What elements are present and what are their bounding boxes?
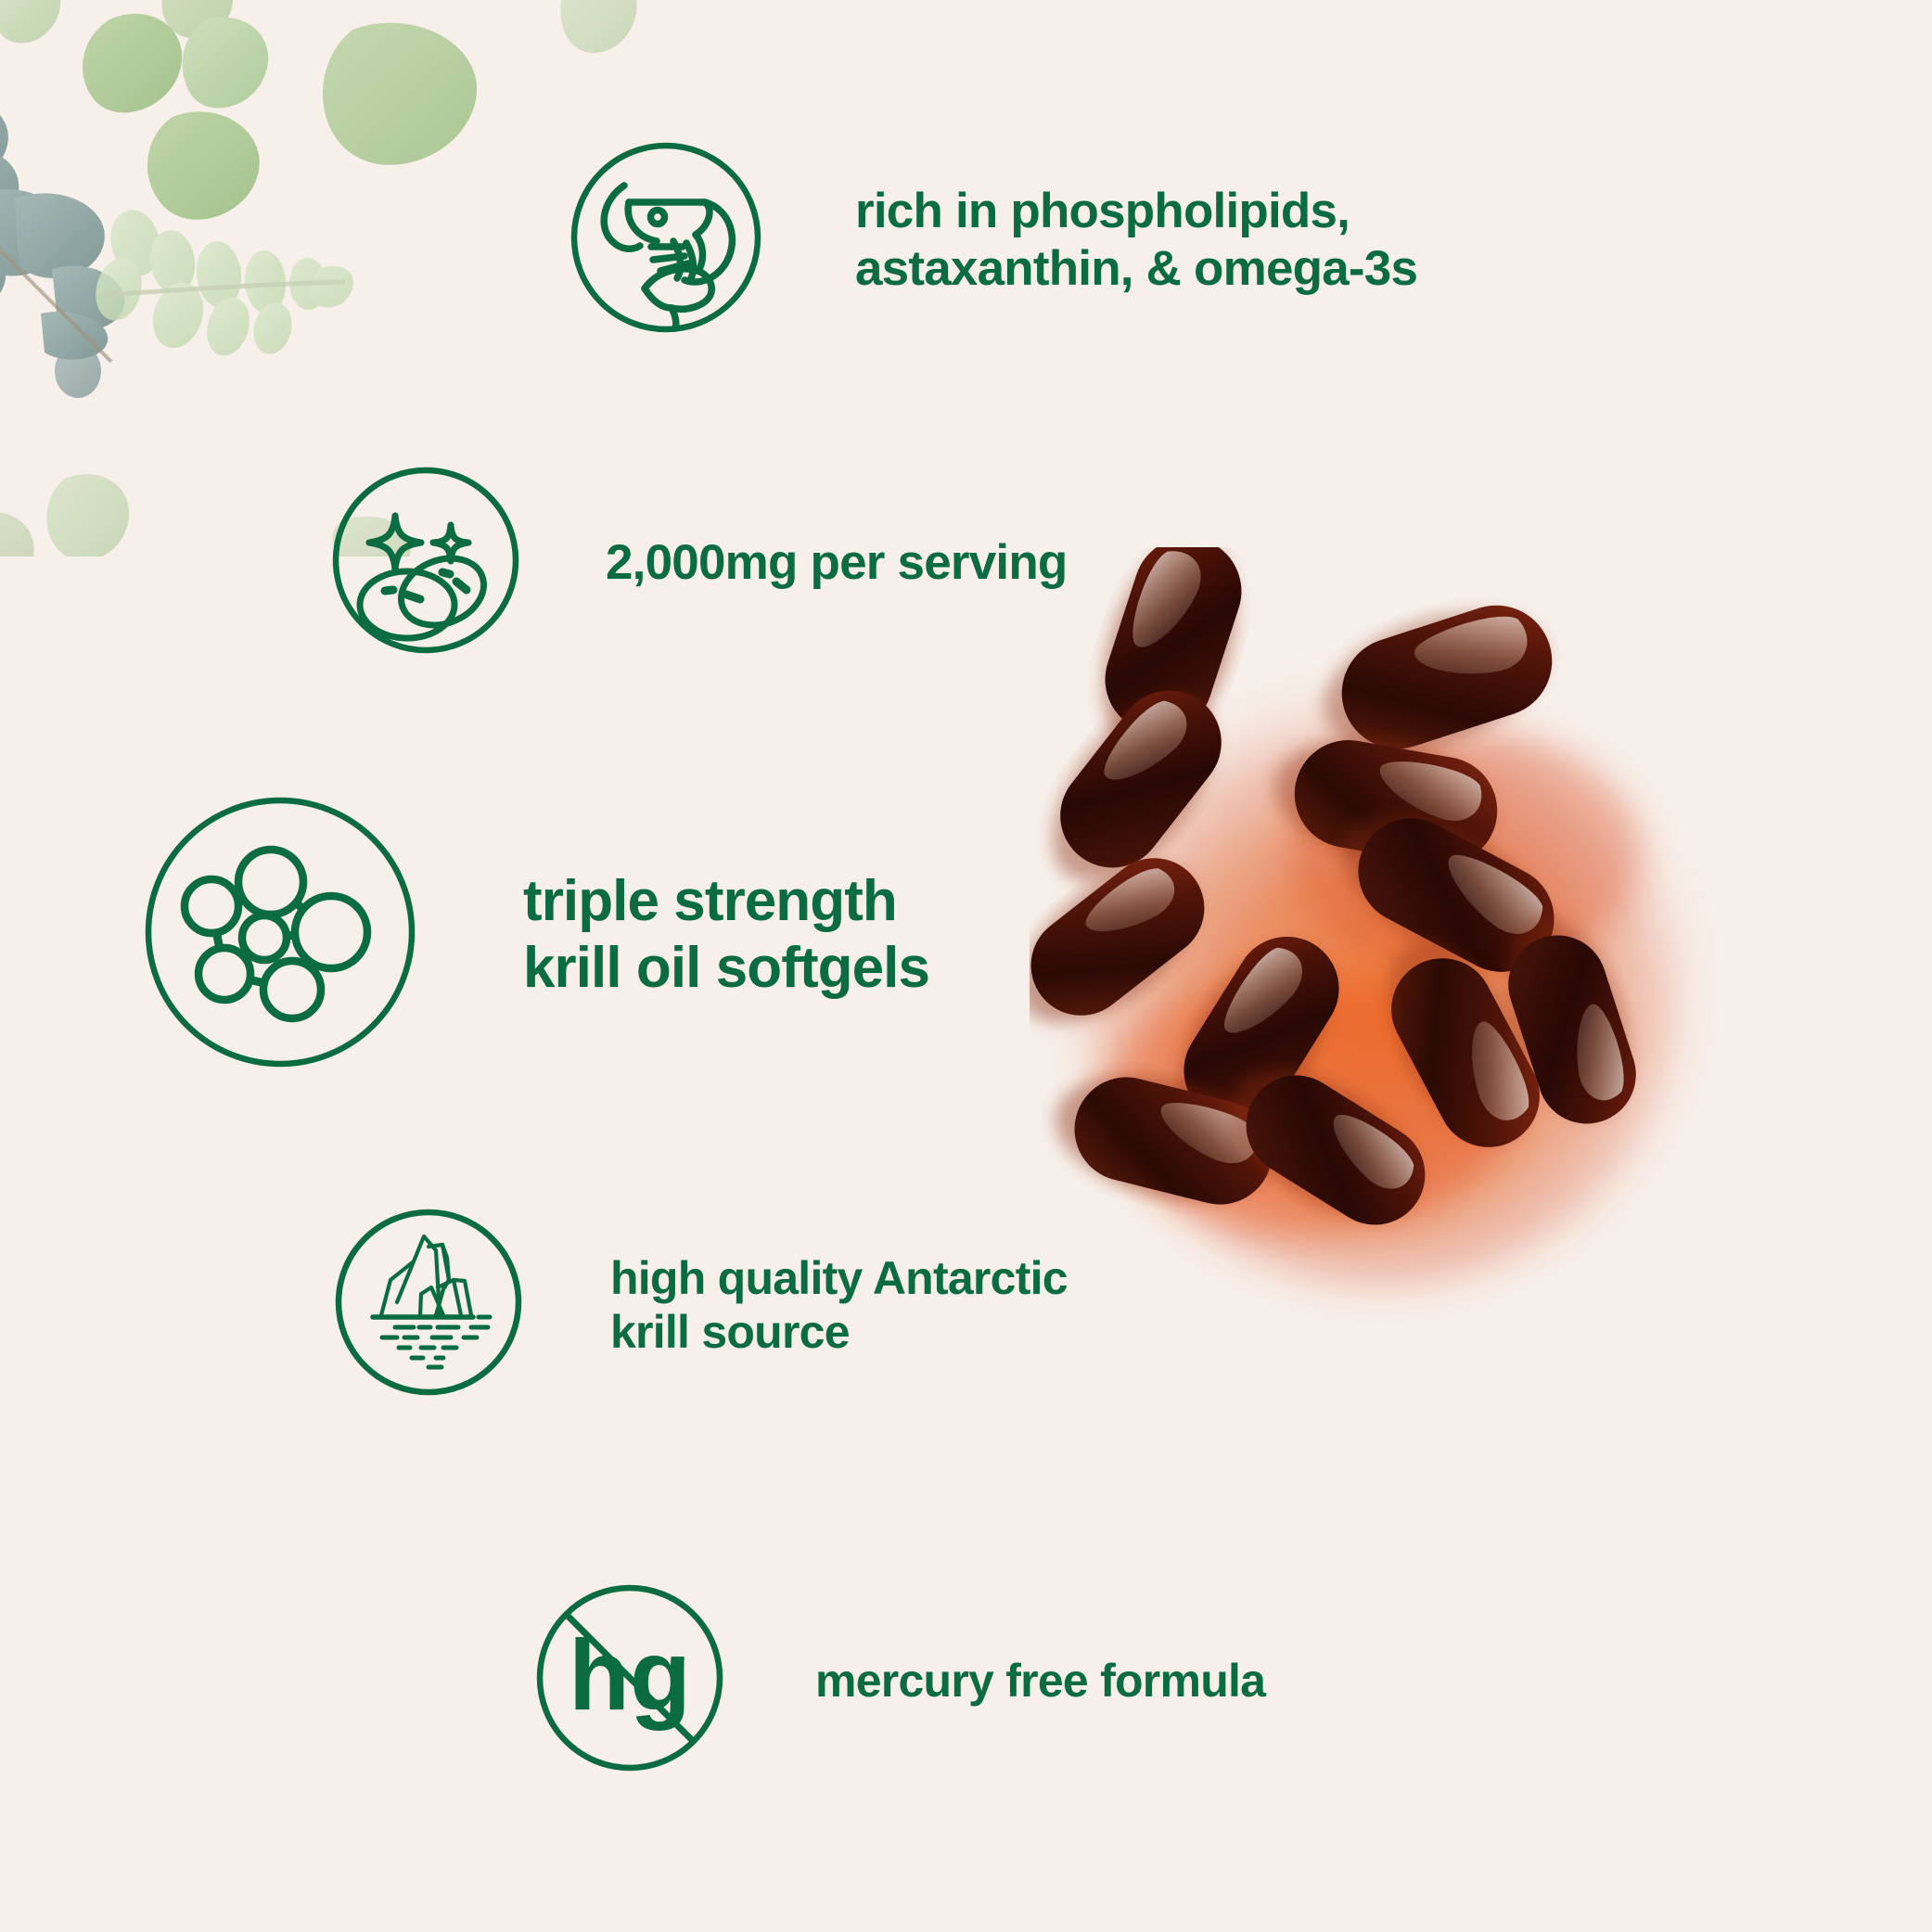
molecule-icon [141,793,419,1076]
shrimp-icon [568,139,764,340]
krill-oil-softgel-capsules-photo [1030,547,1734,1354]
feature-label-5: mercury free formula [815,1654,1265,1708]
feature-dosage-per-serving: 2,000mg per serving [329,464,1067,661]
feature-label-4: high quality Antarctic krill source [610,1251,1068,1359]
feature-triple-strength: triple strength krill oil softgels [141,793,929,1076]
feature-mercury-free: hg mercury free formula [533,1581,1265,1779]
feature-label-3: triple strength krill oil softgels [523,868,929,1002]
no-mercury-icon: hg [533,1581,726,1779]
infographic-canvas: rich in phospholipids, astaxanthin, & om… [0,0,1932,1932]
feature-antarctic-krill-source: high quality Antarctic krill source [332,1206,1068,1403]
feature-label-2: 2,000mg per serving [606,534,1067,591]
feature-label-1: rich in phospholipids, astaxanthin, & om… [855,183,1417,297]
softgel-sparkle-icon [329,464,522,661]
iceberg-icon [332,1206,525,1403]
feature-rich-in-phospholipids: rich in phospholipids, astaxanthin, & om… [568,139,1417,340]
